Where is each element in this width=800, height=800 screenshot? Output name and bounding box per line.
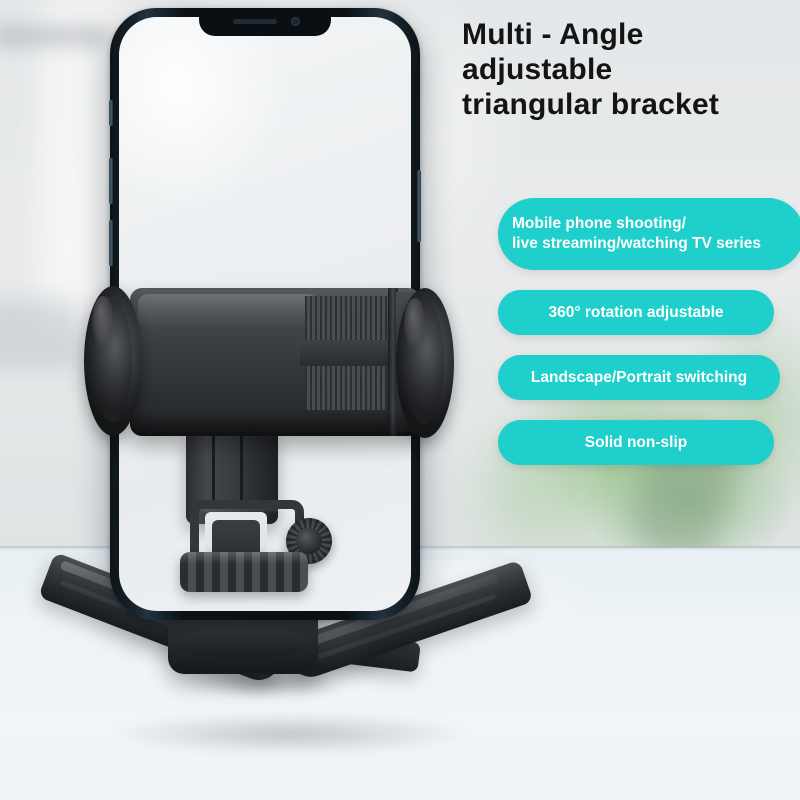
feature-pill-text: Mobile phone shooting/ live streaming/wa…	[512, 214, 761, 254]
feature-pill-text: 360° rotation adjustable	[548, 304, 723, 322]
clamp-pad-gloss	[404, 298, 426, 350]
barrel-band	[300, 340, 392, 366]
front-camera-icon	[291, 17, 300, 26]
feature-pill-line-2: live streaming/watching TV series	[512, 234, 761, 254]
tripod-ground-shadow	[40, 706, 540, 762]
headline-line-2: adjustable	[462, 53, 800, 88]
barrel-grip-ribs	[305, 366, 387, 410]
phone-notch	[199, 8, 331, 36]
feature-pill-list: Mobile phone shooting/ live streaming/wa…	[498, 198, 800, 485]
headline-line-3: triangular bracket	[462, 88, 800, 123]
clamp-pad-gloss	[92, 296, 114, 348]
clamp-pad-left	[84, 286, 142, 436]
feature-pill-nonslip: Solid non-slip	[498, 420, 774, 465]
feature-pill-text: Solid non-slip	[585, 434, 687, 452]
screen-glare	[119, 17, 349, 297]
headline: Multi - Angle adjustable triangular brac…	[462, 18, 800, 122]
feature-pill-text: Landscape/Portrait switching	[531, 369, 747, 387]
phone-volume-up-button[interactable]	[109, 158, 113, 204]
collar-highlight	[180, 552, 308, 564]
feature-pill-orientation: Landscape/Portrait switching	[498, 355, 780, 400]
product-marketing-image: Multi - Angle adjustable triangular brac…	[0, 0, 800, 800]
phone-mute-switch[interactable]	[109, 100, 113, 126]
phone-power-button[interactable]	[417, 170, 421, 242]
clamp-barrel	[130, 288, 420, 436]
barrel-highlight	[138, 294, 318, 328]
neck-slot	[212, 436, 215, 502]
clamp-pad-right	[396, 288, 454, 438]
neck-slot	[240, 436, 243, 502]
phone-volume-down-button[interactable]	[109, 220, 113, 266]
barrel-grip-ribs	[305, 296, 387, 340]
feature-pill-shooting: Mobile phone shooting/ live streaming/wa…	[498, 198, 800, 270]
headline-line-1: Multi - Angle	[462, 18, 800, 53]
background-shelf-left	[0, 300, 80, 370]
rotation-collar[interactable]	[180, 552, 308, 592]
background-shelf-top	[0, 26, 110, 46]
knob-center	[296, 528, 322, 554]
feature-pill-rotation: 360° rotation adjustable	[498, 290, 774, 335]
barrel-shading	[130, 410, 420, 436]
tripod-hub-ring	[172, 628, 314, 658]
earpiece-speaker-icon	[233, 19, 277, 24]
feature-pill-line-1: Mobile phone shooting/	[512, 214, 761, 234]
